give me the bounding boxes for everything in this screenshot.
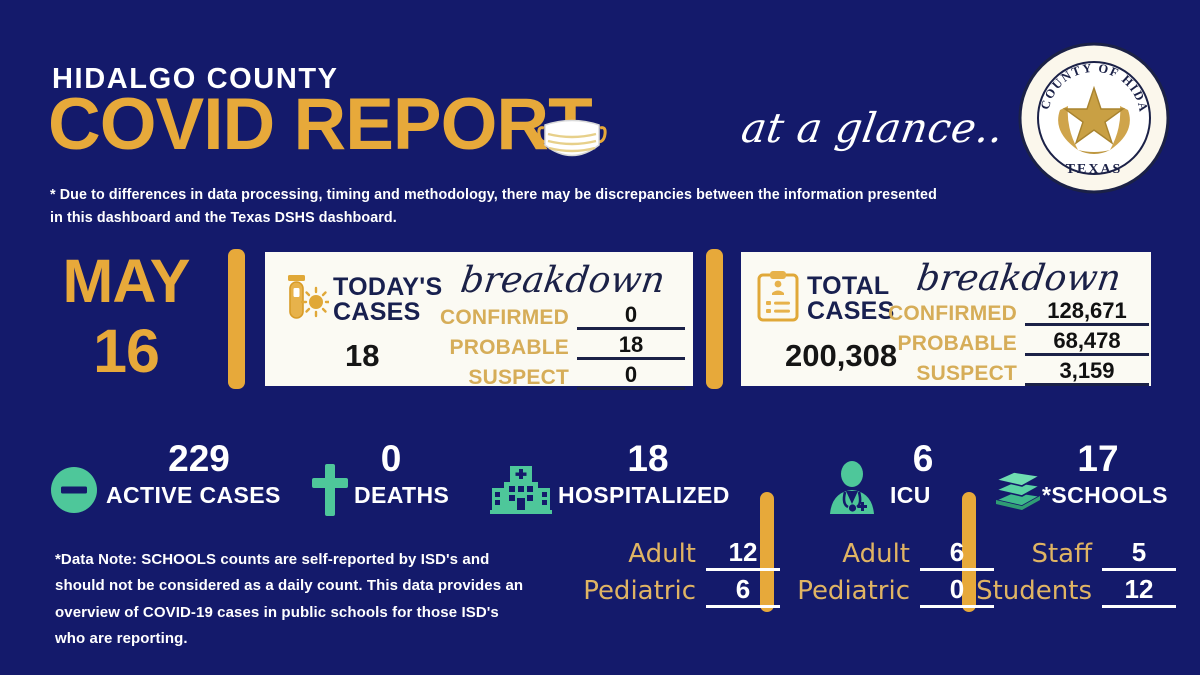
total-cases-card: TOTAL CASES 200,308 breakdown CONFIRMED … — [738, 249, 1154, 389]
at-a-glance-script: at a glance.. — [738, 104, 1007, 152]
breakdown-value: 6 — [706, 576, 780, 608]
total-breakdown-rows: CONFIRMED 128,671 PROBABLE 68,478 SUSPEC… — [891, 296, 1149, 386]
data-note-text: *Data Note: SCHOOLS counts are self-repo… — [55, 547, 525, 652]
todays-cases-card: TODAY'S CASES 18 breakdown CONFIRMED 0 P… — [262, 249, 696, 389]
todays-breakdown-rows: CONFIRMED 0 PROBABLE 18 SUSPECT 0 — [441, 300, 685, 390]
breakdown-value: 0 — [577, 363, 685, 390]
total-cases-label: TOTAL CASES — [807, 274, 895, 324]
breakdown-row: CONFIRMED 128,671 — [891, 296, 1149, 326]
divider-bar-middle — [706, 249, 723, 389]
breakdown-name: Adult — [628, 541, 696, 571]
breakdown-row: Adult 12 — [560, 534, 780, 571]
breakdown-name: SUSPECT — [916, 363, 1017, 386]
breakdown-value: 18 — [577, 333, 685, 360]
report-day: 16 — [46, 322, 206, 382]
breakdown-name: PROBABLE — [898, 333, 1017, 356]
breakdown-row: SUSPECT 0 — [441, 360, 685, 390]
todays-cases-label-line1: TODAY'S — [333, 275, 442, 300]
schools-breakdown: Staff 5 Students 12 — [990, 534, 1176, 608]
total-cases-label-line1: TOTAL — [807, 274, 895, 299]
breakdown-row: PROBABLE 68,478 — [891, 326, 1149, 356]
stat-label: *SCHOOLS — [1042, 484, 1168, 507]
doctor-icon — [824, 460, 880, 514]
breakdown-row: SUSPECT 3,159 — [891, 356, 1149, 386]
breakdown-name: CONFIRMED — [888, 303, 1017, 326]
breakdown-value: 0 — [577, 303, 685, 330]
clipboard-icon — [757, 270, 799, 322]
face-mask-icon — [536, 112, 608, 168]
breakdown-row: PROBABLE 18 — [441, 330, 685, 360]
county-seal: THE COUNTY OF HIDALGO TEXAS — [1016, 40, 1172, 196]
page-title: COVID REPORT — [48, 88, 592, 161]
minus-circle-icon — [50, 466, 98, 514]
todays-breakdown-title: breakdown — [458, 260, 667, 301]
breakdown-row: Adult 6 — [780, 534, 994, 571]
breakdown-name: Students — [976, 578, 1092, 608]
breakdown-name: SUSPECT — [468, 367, 569, 390]
stat-label: ICU — [890, 484, 931, 507]
stat-label: DEATHS — [354, 484, 449, 507]
breakdown-value: 5 — [1102, 539, 1176, 571]
breakdown-row: Pediatric 0 — [780, 571, 994, 608]
stat-number: 18 — [598, 440, 698, 477]
breakdown-row: Staff 5 — [990, 534, 1176, 571]
cross-icon — [312, 464, 348, 516]
breakdown-name: Pediatric — [583, 578, 696, 608]
books-stack-icon — [990, 466, 1046, 516]
total-breakdown-title: breakdown — [914, 258, 1123, 299]
report-date: MAY 16 — [46, 252, 206, 382]
breakdown-name: CONFIRMED — [440, 307, 569, 330]
breakdown-value: 12 — [706, 539, 780, 571]
todays-cases-label-line2: CASES — [333, 300, 442, 325]
svg-text:TEXAS: TEXAS — [1066, 162, 1123, 177]
breakdown-row: Students 12 — [990, 571, 1176, 608]
stat-number: 17 — [1058, 440, 1138, 477]
breakdown-value: 68,478 — [1025, 329, 1149, 356]
todays-cases-total: 18 — [345, 338, 379, 374]
icu-breakdown: Adult 6 Pediatric 0 — [780, 534, 994, 608]
breakdown-name: Staff — [1031, 541, 1092, 571]
infographic-canvas: HIDALGO COUNTY COVID REPORT at a glance.… — [0, 0, 1200, 675]
test-tube-virus-icon — [283, 274, 329, 322]
stat-label: ACTIVE CASES — [106, 484, 281, 507]
breakdown-name: Pediatric — [797, 578, 910, 608]
breakdown-row: Pediatric 6 — [560, 571, 780, 608]
total-cases-label-line2: CASES — [807, 299, 895, 324]
report-month: MAY — [46, 252, 206, 312]
todays-cases-label: TODAY'S CASES — [333, 275, 442, 325]
stat-number: 229 — [144, 440, 254, 477]
breakdown-name: Adult — [842, 541, 910, 571]
breakdown-value: 6 — [920, 539, 994, 571]
stat-label: HOSPITALIZED — [558, 484, 730, 507]
stat-number: 0 — [356, 440, 426, 477]
stat-number: 6 — [888, 440, 958, 477]
breakdown-row: CONFIRMED 0 — [441, 300, 685, 330]
breakdown-name: PROBABLE — [450, 337, 569, 360]
disclaimer-text: * Due to differences in data processing,… — [50, 184, 950, 231]
total-cases-total: 200,308 — [785, 338, 897, 374]
hospital-icon — [490, 464, 552, 516]
breakdown-value: 12 — [1102, 576, 1176, 608]
breakdown-value: 3,159 — [1025, 359, 1149, 386]
divider-bar-left — [228, 249, 245, 389]
breakdown-value: 128,671 — [1025, 299, 1149, 326]
hospitalized-breakdown: Adult 12 Pediatric 6 — [560, 534, 780, 608]
